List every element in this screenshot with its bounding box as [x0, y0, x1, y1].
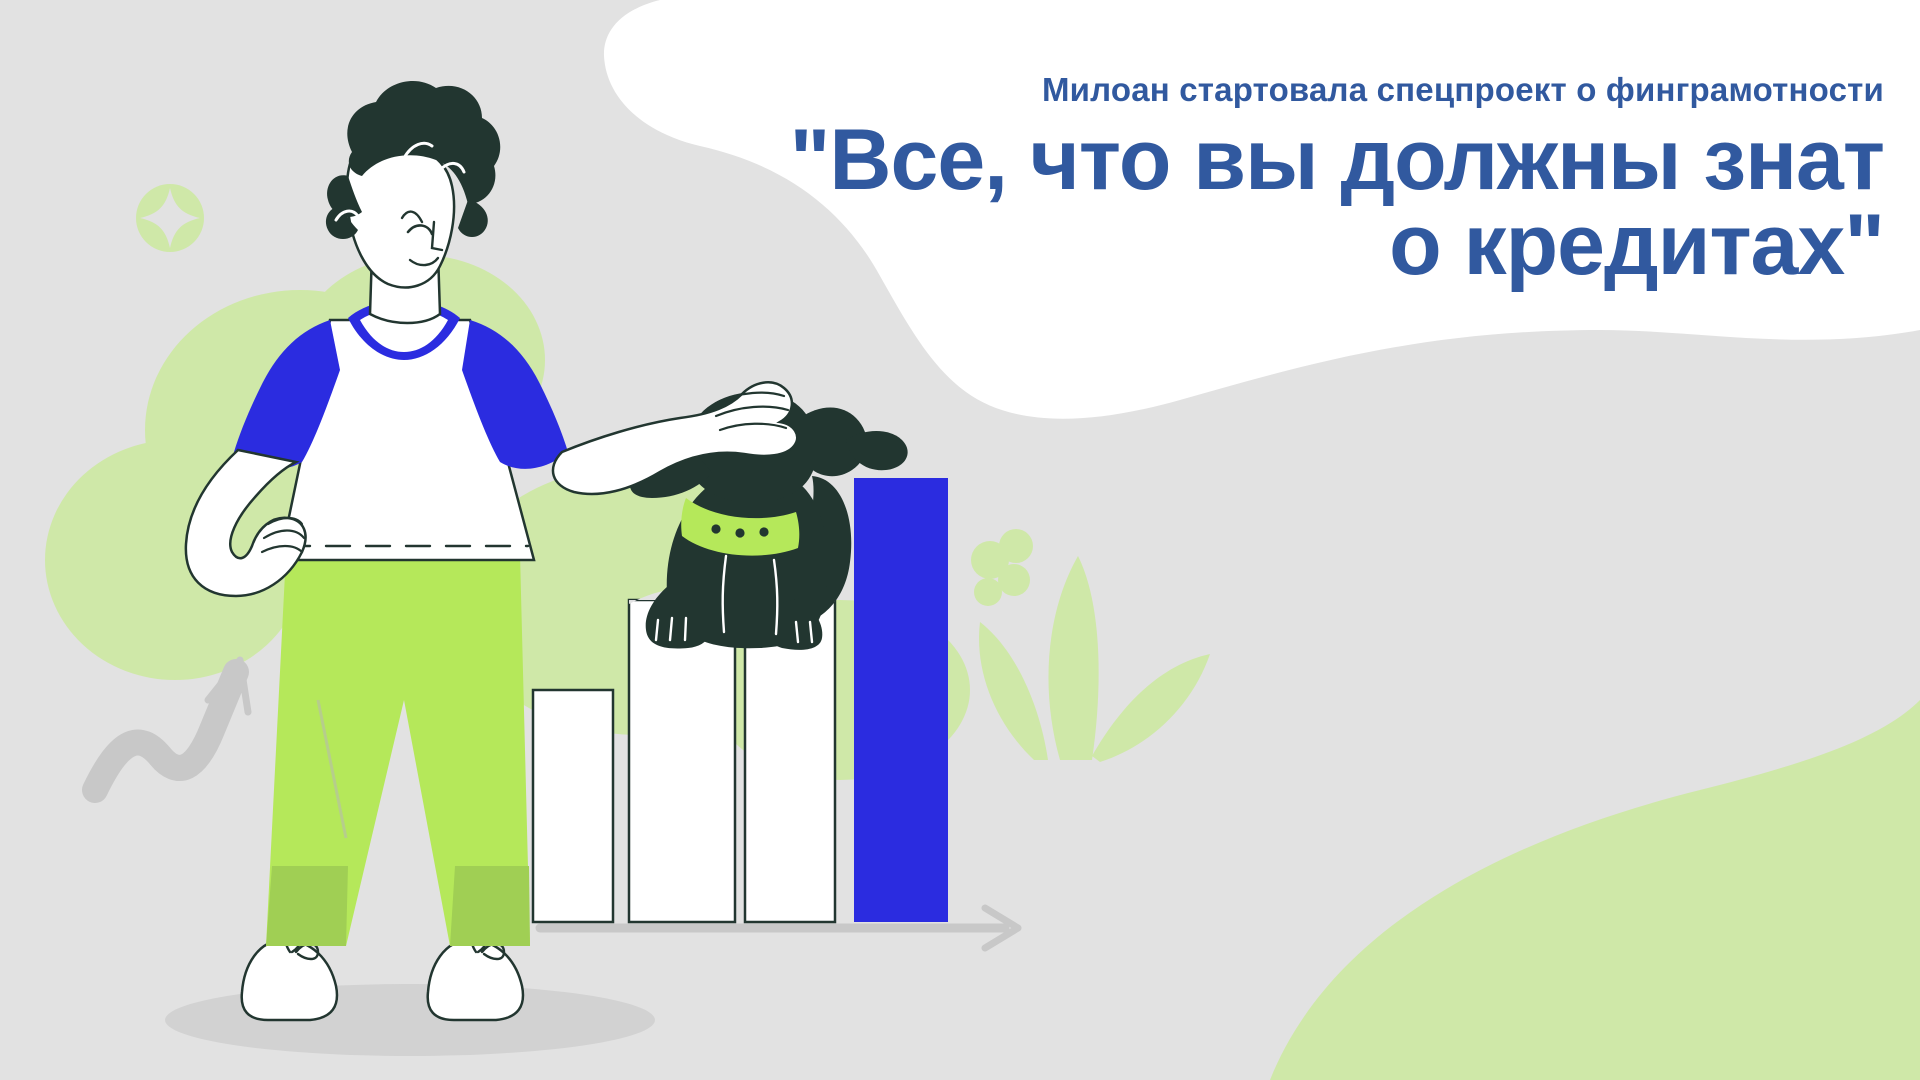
chart-bar-1: [533, 690, 613, 922]
banner-illustration: [0, 0, 1920, 1080]
chart-bar-4: [854, 478, 948, 922]
ground-shadow: [165, 984, 655, 1056]
sparkle-icon: [136, 184, 204, 252]
promo-banner: Милоан стартовала спецпроект о финграмот…: [0, 0, 1920, 1080]
